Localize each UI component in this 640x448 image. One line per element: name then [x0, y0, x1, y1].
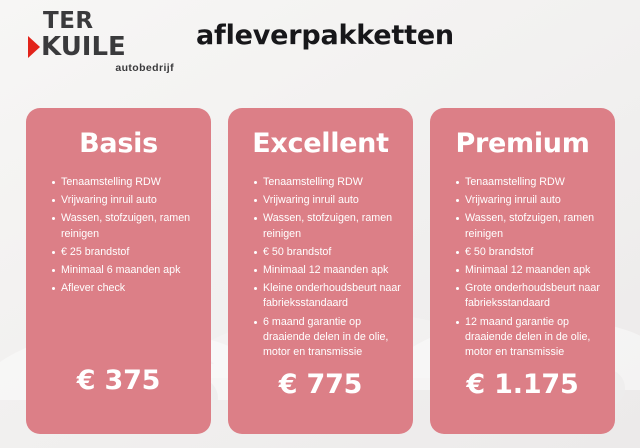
- logo-line-ter: TER: [28, 10, 178, 33]
- package-feature-list: Tenaamstelling RDW Vrijwaring inruil aut…: [228, 175, 413, 363]
- feature-item: Grote onderhoudsbeurt naar fabrieksstand…: [456, 281, 605, 311]
- feature-item: Wassen, stofzuigen, ramen reinigen: [456, 211, 605, 241]
- feature-item: Minimaal 6 maanden apk: [52, 263, 201, 278]
- page-header: TER KUILE autobedrijf afleverpakketten: [0, 0, 640, 92]
- feature-item: Vrijwaring inruil auto: [52, 193, 201, 208]
- feature-item: Tenaamstelling RDW: [456, 175, 605, 190]
- feature-item: Tenaamstelling RDW: [254, 175, 403, 190]
- feature-item: Wassen, stofzuigen, ramen reinigen: [52, 211, 201, 241]
- logo-line-kuile: KUILE: [41, 34, 126, 60]
- feature-item: Minimaal 12 maanden apk: [456, 263, 605, 278]
- package-card-list: Basis Tenaamstelling RDW Vrijwaring inru…: [26, 108, 615, 434]
- package-card-basis[interactable]: Basis Tenaamstelling RDW Vrijwaring inru…: [26, 108, 211, 434]
- logo-tagline: autobedrijf: [28, 62, 178, 74]
- package-feature-list: Tenaamstelling RDW Vrijwaring inruil aut…: [430, 175, 615, 363]
- feature-item: Wassen, stofzuigen, ramen reinigen: [254, 211, 403, 241]
- feature-item: Vrijwaring inruil auto: [456, 193, 605, 208]
- slide-canvas: TER KUILE autobedrijf afleverpakketten B…: [0, 0, 640, 448]
- chevron-right-icon: [28, 36, 40, 58]
- package-title: Premium: [430, 128, 615, 159]
- feature-item: € 25 brandstof: [52, 245, 201, 260]
- feature-item: € 50 brandstof: [254, 245, 403, 260]
- package-price: € 1.175: [430, 363, 615, 434]
- feature-item: 6 maand garantie op draaiende delen in d…: [254, 315, 403, 361]
- package-card-premium[interactable]: Premium Tenaamstelling RDW Vrijwaring in…: [430, 108, 615, 434]
- logo-line-kuile-row: KUILE: [28, 34, 178, 60]
- package-title: Basis: [26, 128, 211, 159]
- package-price: € 775: [228, 363, 413, 434]
- brand-logo: TER KUILE autobedrijf: [28, 10, 178, 74]
- feature-item: Vrijwaring inruil auto: [254, 193, 403, 208]
- feature-item: Tenaamstelling RDW: [52, 175, 201, 190]
- package-price: € 375: [26, 359, 211, 434]
- package-feature-list: Tenaamstelling RDW Vrijwaring inruil aut…: [26, 175, 211, 359]
- feature-item: Aflever check: [52, 281, 201, 296]
- package-title: Excellent: [228, 128, 413, 159]
- feature-item: 12 maand garantie op draaiende delen in …: [456, 315, 605, 361]
- feature-item: € 50 brandstof: [456, 245, 605, 260]
- feature-item: Minimaal 12 maanden apk: [254, 263, 403, 278]
- package-card-excellent[interactable]: Excellent Tenaamstelling RDW Vrijwaring …: [228, 108, 413, 434]
- page-title: afleverpakketten: [196, 20, 454, 51]
- feature-item: Kleine onderhoudsbeurt naar fabrieksstan…: [254, 281, 403, 311]
